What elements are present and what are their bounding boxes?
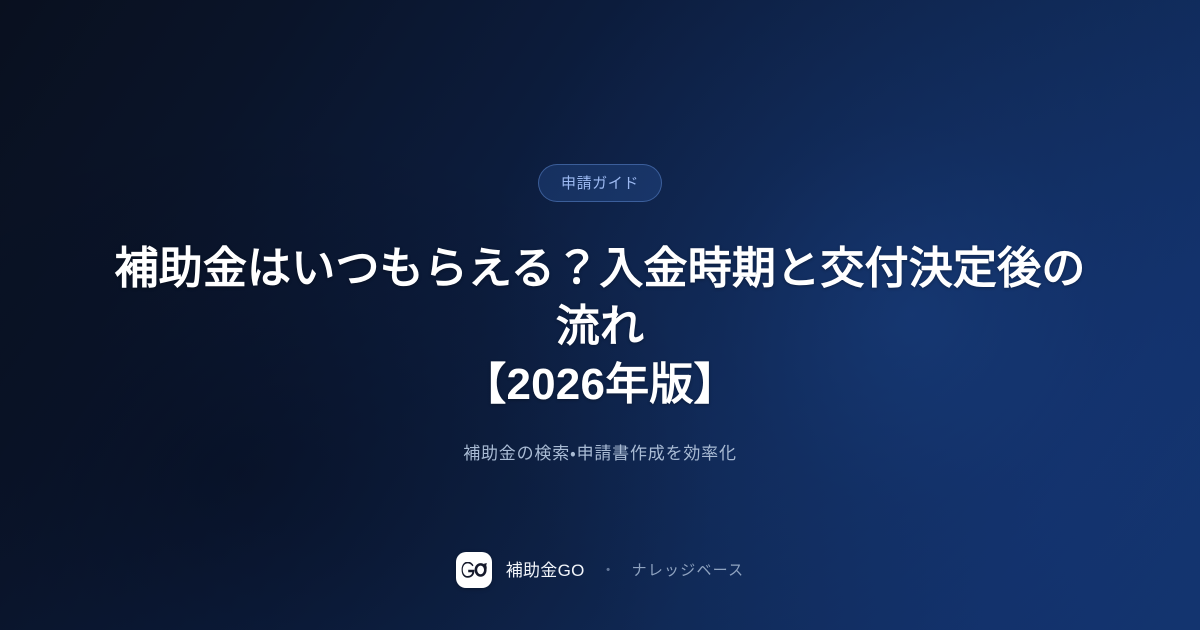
go-logo-icon [456,552,492,588]
category-badge: 申請ガイド [538,164,662,202]
page-subtitle: 補助金の検索・申請書作成を効率化 [463,442,737,466]
site-section-label: ナレッジベース [632,563,745,578]
card-footer: 補助金GO ・ ナレッジベース [0,552,1200,588]
page-title-line-1: 補助金はいつもらえる？入金時期と交付決定後の流れ [110,240,1090,356]
page-title-line-2: 【2026年版】 [110,356,1090,414]
page-title: 補助金はいつもらえる？入金時期と交付決定後の流れ 【2026年版】 [110,240,1090,414]
card-content: 申請ガイド 補助金はいつもらえる？入金時期と交付決定後の流れ 【2026年版】 … [0,0,1200,630]
og-share-card: 申請ガイド 補助金はいつもらえる？入金時期と交付決定後の流れ 【2026年版】 … [0,0,1200,630]
brand-name: 補助金GO [506,562,585,579]
separator-dot-icon: ・ [601,563,616,578]
